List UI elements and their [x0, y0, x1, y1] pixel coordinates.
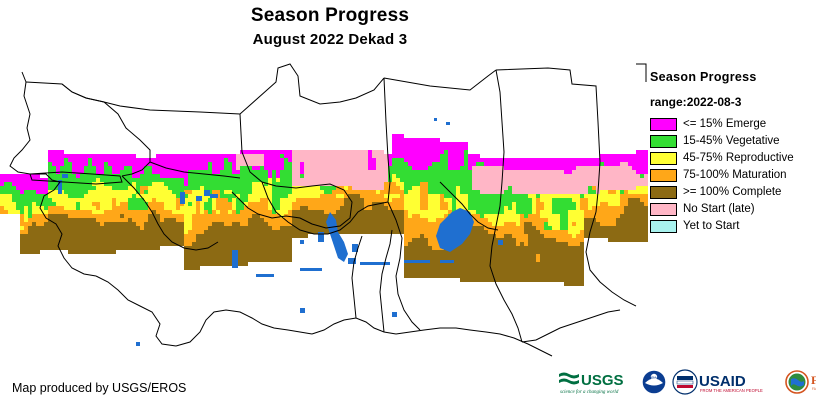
- country-border: [62, 84, 240, 114]
- svg-text:FAMINE EARLY WARNING SYSTEMS N: FAMINE EARLY WARNING SYSTEMS NETWORK: [812, 387, 816, 391]
- country-border: [240, 64, 384, 114]
- legend-item: Yet to Start: [650, 218, 816, 234]
- country-border: [150, 162, 240, 178]
- map-credit: Map produced by USGS/EROS: [12, 381, 186, 395]
- legend-item-label: 15-45% Vegetative: [683, 135, 780, 148]
- title-block: Season Progress August 2022 Dekad 3: [0, 4, 660, 51]
- season-progress-map-page: Season Progress August 2022 Dekad 3 Seas…: [0, 0, 816, 403]
- svg-text:USGS: USGS: [581, 372, 624, 389]
- legend-item-label: Yet to Start: [683, 220, 739, 233]
- country-border: [232, 114, 352, 228]
- country-border: [496, 68, 600, 212]
- country-border: [328, 202, 388, 234]
- legend-item: 75-100% Maturation: [650, 167, 816, 183]
- country-border: [96, 276, 176, 346]
- logo-strip: USGS science for a changing world NOAA U…: [558, 364, 814, 400]
- country-border: [352, 236, 362, 318]
- country-border: [396, 328, 552, 356]
- usaid-logo: USAID FROM THE AMERICAN PEOPLE: [672, 369, 780, 395]
- legend-swatch: [650, 203, 677, 216]
- country-border: [26, 82, 150, 176]
- country-border: [586, 212, 636, 306]
- legend-swatch: [650, 169, 677, 182]
- legend-swatch: [650, 152, 677, 165]
- legend-item-label: 45-75% Reproductive: [683, 152, 794, 165]
- page-title: Season Progress: [0, 4, 660, 28]
- country-border: [384, 70, 496, 90]
- legend-range-label: range:: [650, 95, 687, 109]
- legend-swatch: [650, 135, 677, 148]
- legend-item: <= 15% Emerge: [650, 116, 816, 132]
- legend-heading: Season Progress: [650, 70, 816, 84]
- usgs-logo: USGS science for a changing world: [558, 369, 636, 395]
- map-area[interactable]: [0, 62, 648, 362]
- svg-text:FEWS NET: FEWS NET: [811, 373, 816, 387]
- legend-swatch: [650, 220, 677, 233]
- page-subtitle: August 2022 Dekad 3: [0, 29, 660, 51]
- legend-item: >= 100% Complete: [650, 184, 816, 200]
- country-border: [388, 202, 420, 330]
- fewsnet-logo: FEWS NET FAMINE EARLY WARNING SYSTEMS NE…: [785, 369, 816, 395]
- country-border: [384, 78, 390, 202]
- map-frame-corner: [636, 64, 646, 82]
- legend-item-label: <= 15% Emerge: [683, 118, 766, 131]
- country-border: [122, 176, 218, 250]
- legend-item: No Start (late): [650, 201, 816, 217]
- map-country-borders: [0, 62, 648, 362]
- country-border: [10, 72, 96, 276]
- legend-item-label: >= 100% Complete: [683, 186, 781, 199]
- legend-panel: Season Progress range:2022-08-3 <= 15% E…: [650, 70, 816, 235]
- legend-rows: <= 15% Emerge15-45% Vegetative45-75% Rep…: [650, 116, 816, 234]
- country-border: [522, 310, 620, 342]
- legend-swatch: [650, 118, 677, 131]
- svg-text:NOAA: NOAA: [650, 376, 660, 380]
- legend-range-value: 2022-08-3: [687, 95, 742, 109]
- legend-range: range:2022-08-3: [650, 95, 816, 109]
- country-border: [176, 310, 312, 346]
- legend-item: 45-75% Reproductive: [650, 150, 816, 166]
- legend-item-label: No Start (late): [683, 203, 755, 216]
- noaa-logo: NOAA: [641, 369, 667, 395]
- svg-text:science for a changing world: science for a changing world: [560, 390, 619, 395]
- country-border: [380, 230, 392, 332]
- svg-text:FROM THE AMERICAN PEOPLE: FROM THE AMERICAN PEOPLE: [700, 388, 763, 393]
- country-border: [440, 182, 498, 230]
- country-border: [490, 206, 522, 342]
- legend-item-label: 75-100% Maturation: [683, 169, 787, 182]
- legend-swatch: [650, 186, 677, 199]
- country-border: [496, 70, 504, 206]
- legend-item: 15-45% Vegetative: [650, 133, 816, 149]
